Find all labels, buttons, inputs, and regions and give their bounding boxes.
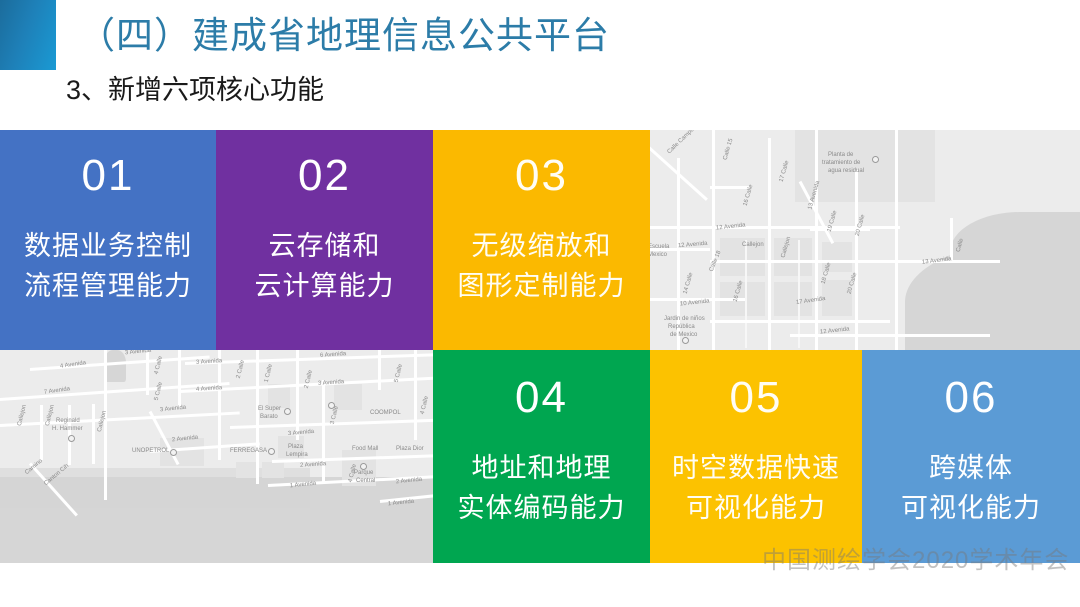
tile-label: 地址和地理 实体编码能力 — [458, 448, 626, 528]
map-road-minor — [798, 240, 800, 348]
tile-number: 01 — [82, 154, 135, 198]
tile-label: 云存储和 云计算能力 — [255, 226, 395, 306]
map-label: agua residual — [828, 168, 864, 175]
map-road — [378, 350, 381, 390]
map-road — [296, 350, 299, 440]
tile-label-line2: 实体编码能力 — [458, 488, 626, 528]
map-label: Escuela — [650, 244, 669, 251]
map-poi-icon — [872, 156, 879, 163]
map-label: Central — [356, 478, 375, 485]
feature-tile-03[interactable]: 03 无级缩放和 图形定制能力 — [433, 130, 650, 350]
tile-number: 02 — [298, 154, 351, 198]
tile-label: 跨媒体 可视化能力 — [901, 448, 1041, 528]
map-road — [178, 350, 181, 408]
map-road — [92, 404, 95, 464]
map-poi-icon — [284, 408, 291, 415]
tile-label: 无级缩放和 图形定制能力 — [458, 226, 626, 306]
map-road — [710, 320, 890, 323]
map-river — [104, 350, 126, 382]
map-road — [414, 350, 417, 440]
feature-tile-01[interactable]: 01 数据业务控制 流程管理能力 — [0, 130, 216, 350]
feature-tile-06[interactable]: 06 跨媒体 可视化能力 — [862, 350, 1080, 563]
tile-number: 06 — [945, 376, 998, 420]
section-subtitle: 3、新增六项核心功能 — [66, 72, 324, 108]
map-image-top-right: Calle Campo Calle 15 16 Calle 17 Calle 1… — [650, 130, 1080, 350]
map-label: FERREGASA — [230, 448, 267, 455]
tile-label-line1: 地址和地理 — [472, 448, 612, 488]
tile-label: 时空数据快速 可视化能力 — [672, 448, 840, 528]
map-poi-icon — [682, 337, 689, 344]
tile-label-line2: 云计算能力 — [255, 266, 395, 306]
map-road — [710, 186, 750, 189]
map-label: Parque — [354, 470, 373, 477]
tile-label: 数据业务控制 流程管理能力 — [24, 226, 192, 306]
map-road — [712, 130, 715, 350]
map-label: El Super — [258, 406, 281, 413]
map-label: Food Mall — [352, 446, 378, 453]
map-poi-icon — [360, 463, 367, 470]
map-label: República — [668, 324, 695, 331]
map-road — [815, 130, 818, 350]
map-label: COOMPOL — [370, 410, 401, 417]
map-road-minor — [745, 240, 747, 348]
tile-label-line1: 无级缩放和 — [472, 226, 612, 266]
slide: （四）建成省地理信息公共平台 3、新增六项核心功能 01 数据业务控制 流程管理… — [0, 0, 1080, 607]
tile-number: 03 — [515, 154, 568, 198]
map-road — [218, 350, 221, 460]
title-accent-bar — [0, 0, 56, 70]
conference-watermark: 中国测绘学会2020学术年会 — [762, 546, 1069, 576]
map-label: Callejon — [742, 242, 764, 249]
map-label: Plaza — [288, 444, 303, 451]
tile-label-line1: 跨媒体 — [929, 448, 1013, 488]
map-label: tratamiento de — [822, 160, 860, 167]
map-block — [262, 462, 284, 478]
feature-tile-02[interactable]: 02 云存储和 云计算能力 — [216, 130, 433, 350]
map-label: Jardin de niños — [664, 316, 705, 323]
map-label: Plaza Dior — [396, 446, 424, 453]
tile-label-line1: 数据业务控制 — [24, 226, 192, 266]
page-title: （四）建成省地理信息公共平台 — [78, 12, 610, 60]
map-poi-icon — [68, 435, 75, 442]
map-poi-icon — [268, 448, 275, 455]
map-road — [768, 138, 771, 350]
map-label: H. Hammer — [52, 426, 83, 433]
tile-label-line2: 可视化能力 — [686, 488, 826, 528]
map-block — [822, 280, 852, 316]
street-map: Calle Campo Calle 15 16 Calle 17 Calle 1… — [650, 130, 1080, 350]
tile-label-line1: 时空数据快速 — [672, 448, 840, 488]
tile-label-line2: 流程管理能力 — [24, 266, 192, 306]
tile-number: 04 — [515, 376, 568, 420]
map-road — [40, 405, 43, 460]
map-road — [895, 130, 898, 350]
tile-number: 05 — [730, 376, 783, 420]
map-label: Barato — [260, 414, 278, 421]
map-poi-icon — [328, 402, 335, 409]
map-image-bottom-left: 4 Avenida 3 Avenida 3 Avenida 4 Avenida … — [0, 350, 433, 563]
map-road — [322, 380, 325, 484]
street-map: 4 Avenida 3 Avenida 3 Avenida 4 Avenida … — [0, 350, 433, 563]
map-label: UNOPETROL — [132, 448, 169, 455]
tile-label-line1: 云存储和 — [269, 226, 381, 266]
map-label: Planta de — [828, 152, 853, 159]
feature-tile-04[interactable]: 04 地址和地理 实体编码能力 — [433, 350, 650, 563]
map-road — [710, 260, 1000, 263]
map-label: Reginald — [56, 418, 80, 425]
tile-label-line2: 图形定制能力 — [458, 266, 626, 306]
feature-grid: 01 数据业务控制 流程管理能力 02 云存储和 云计算能力 03 — [0, 130, 1080, 563]
map-block — [236, 462, 258, 478]
feature-tile-05[interactable]: 05 时空数据快速 可视化能力 — [650, 350, 862, 563]
map-road — [146, 350, 149, 395]
map-label: Lempira — [286, 452, 308, 459]
map-road — [256, 350, 259, 484]
tile-label-line2: 可视化能力 — [901, 488, 1041, 528]
map-poi-icon — [170, 449, 177, 456]
map-label: Mexico — [650, 252, 667, 259]
